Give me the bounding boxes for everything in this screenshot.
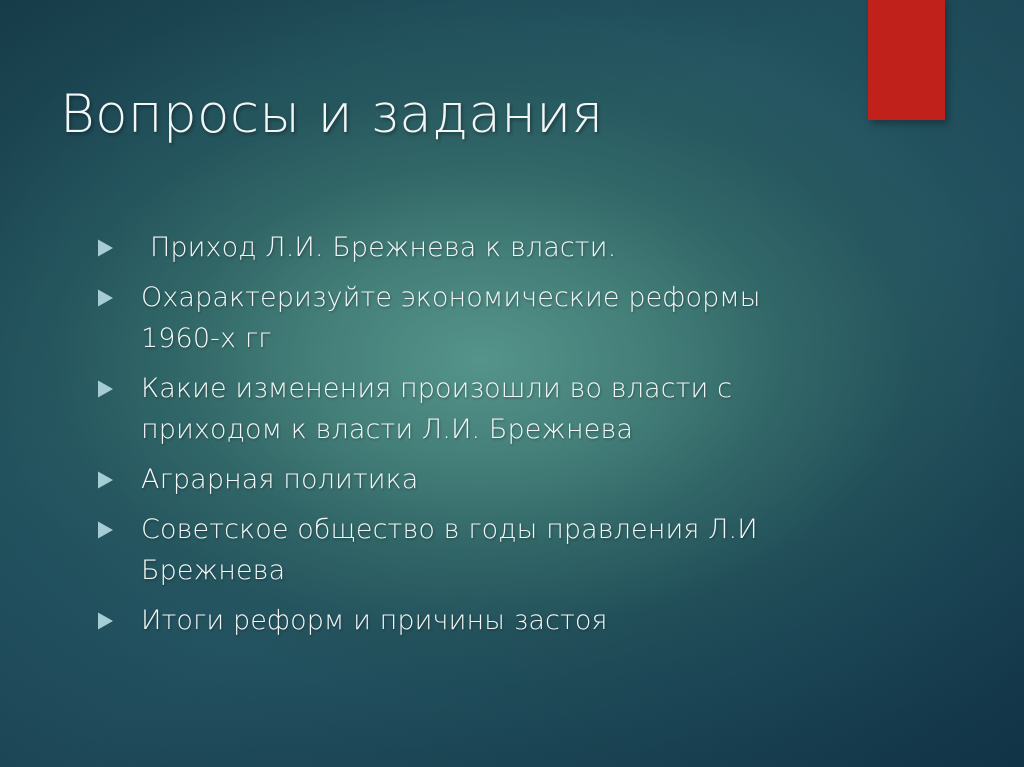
list-item-label: Аграрная политика	[141, 459, 826, 500]
triangle-right-icon	[96, 600, 141, 631]
list-item-label: Какие изменения произошли во власти с пр…	[141, 368, 826, 450]
question-list: Приход Л.И. Брежнева к власти.Охарактери…	[96, 227, 826, 641]
list-item: Какие изменения произошли во власти с пр…	[96, 368, 826, 450]
list-item: Итоги реформ и причины застоя	[96, 600, 826, 641]
triangle-right-icon	[96, 459, 141, 490]
presentation-slide: Вопросы и задания Приход Л.И. Брежнева к…	[0, 0, 1024, 767]
red-accent-rectangle	[868, 0, 945, 120]
page-title: Вопросы и задания	[60, 84, 850, 146]
list-item-label: Приход Л.И. Брежнева к власти.	[141, 227, 826, 268]
list-item: Охарактеризуйте экономические реформы 19…	[96, 277, 826, 359]
list-item-label: Итоги реформ и причины застоя	[141, 600, 826, 641]
triangle-right-icon	[96, 368, 141, 399]
list-item-label: Охарактеризуйте экономические реформы 19…	[141, 277, 826, 359]
list-item-label: Советское общество в годы правления Л.И …	[141, 509, 826, 591]
list-item: Аграрная политика	[96, 459, 826, 500]
list-item: Советское общество в годы правления Л.И …	[96, 509, 826, 591]
triangle-right-icon	[96, 277, 141, 308]
triangle-right-icon	[96, 227, 141, 258]
list-item: Приход Л.И. Брежнева к власти.	[96, 227, 826, 268]
triangle-right-icon	[96, 509, 141, 540]
